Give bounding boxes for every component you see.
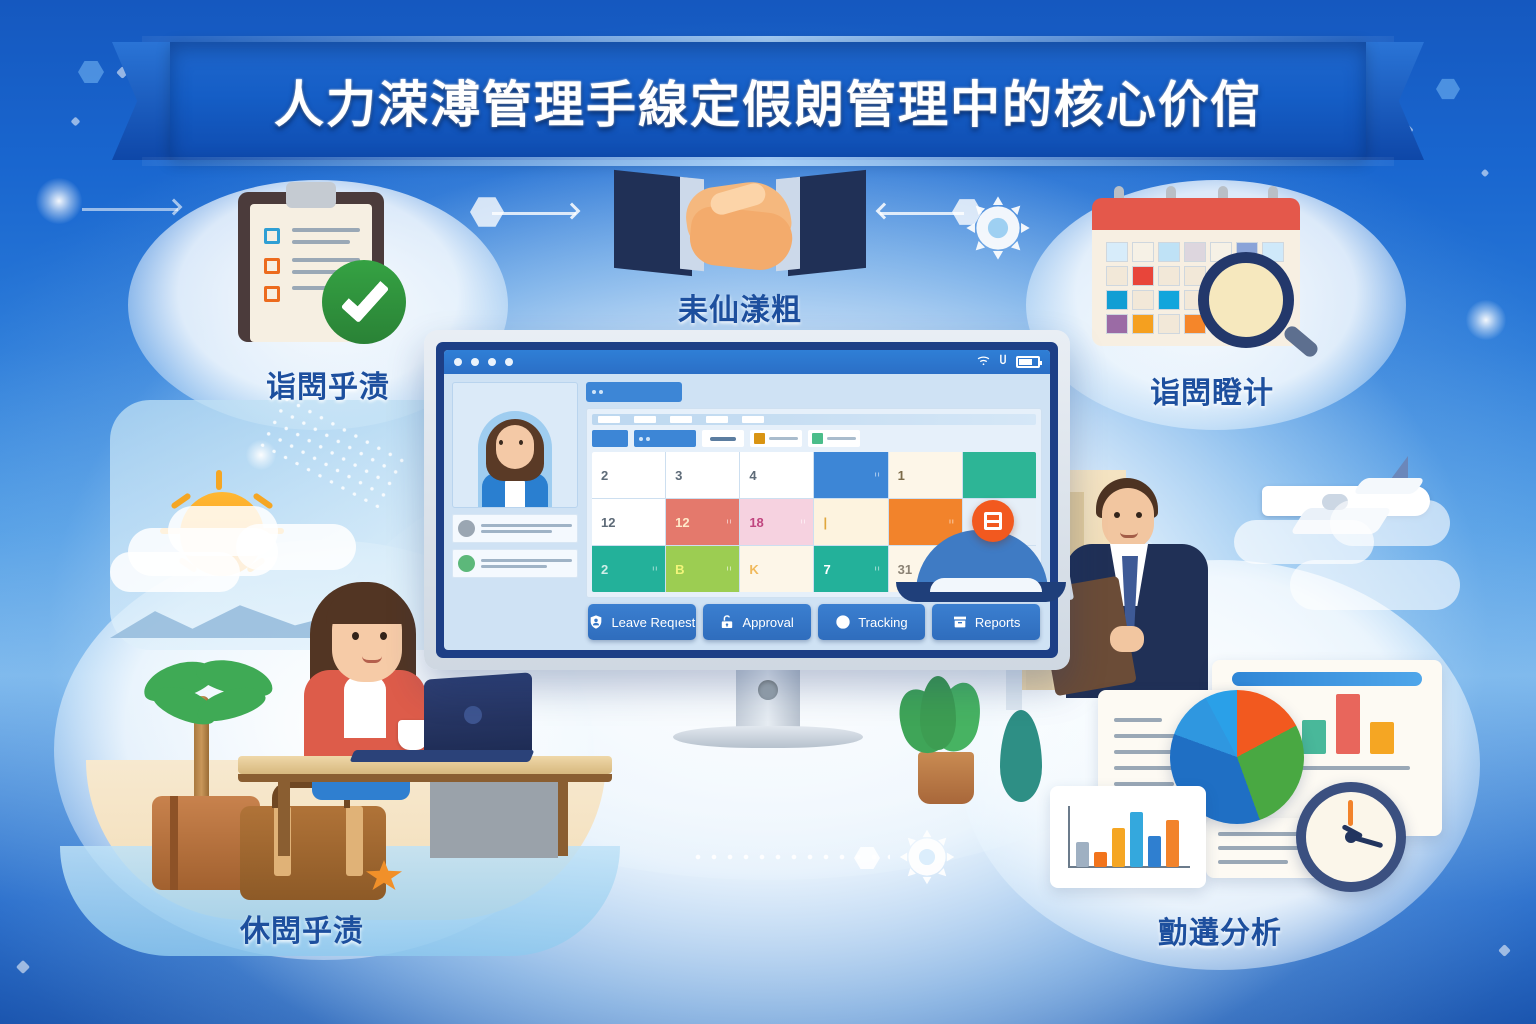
nav-item[interactable] [670,416,692,423]
usb-icon [999,354,1007,370]
bar-chart-bar [1370,722,1394,754]
clock-icon [835,614,851,630]
toolbar-field[interactable] [702,430,744,447]
calendar-cell-number: 18 [749,515,763,530]
panel-toolbar [592,430,1036,447]
magnifier-lens [1198,252,1294,348]
checkbox-checked [264,258,280,274]
window-dot[interactable] [505,358,513,366]
calendar-cell-tag: ıı [875,472,881,479]
title-banner: 人力溁溥管理手線定假朗管理中的核心价倌 [112,42,1424,160]
hexagon-node [470,196,504,228]
laptop-icon [464,706,482,724]
app-window: 234ıı11212ıı18ıı|ıı2ııBııK7ıı31 Leave Re… [444,350,1050,650]
calendar-cell-tag: ıı [949,519,955,526]
bar-chart-bar [1166,820,1179,867]
gear-icon [896,826,958,888]
cal-cell [1132,242,1154,262]
bar-chart-bar [1076,842,1089,867]
feature-label-leave-stats: 诣閚瞪计 [1052,368,1372,412]
action-button-row: Leave Reqıest Approval Tracking [586,604,1042,642]
archive-icon [952,614,968,630]
bar-chart-bar [1302,720,1326,754]
list-item-lines [481,524,572,533]
cal-cell [1184,242,1206,262]
calendar-cell-tag: ıı [726,519,732,526]
cal-cell [1132,266,1154,286]
legend-item-approved [808,430,860,447]
cal-cell [1158,314,1180,334]
document-line [1218,860,1288,864]
bar-chart-bar [1112,828,1125,867]
sparkle [71,117,81,127]
cap-highlight [930,578,1042,592]
arrow-icon [492,212,576,215]
desk-leg [278,782,290,856]
window-dot[interactable] [471,358,479,366]
calendar-cell-number: 12 [601,515,615,530]
calendar-cell-number: 1 [898,468,905,483]
eye [1114,512,1120,518]
cloud [1330,500,1450,546]
monitor-stand-base [673,726,863,748]
sparkle [36,178,82,224]
potted-plant-icon [918,752,974,804]
desk-drawer [430,782,558,858]
feature-label-vacation: 休閚乎渍 [142,906,462,950]
legend-swatch [754,433,765,444]
cal-cell [1158,266,1180,286]
calendar-cell-tag: ıı [652,566,658,573]
battery-icon [1016,356,1040,368]
calendar-cell[interactable]: 12ıı [666,499,739,545]
wifi-icon [977,355,990,369]
sparkle [1498,944,1511,957]
checkbox-checked [264,286,280,302]
calendar-cell[interactable]: 3 [666,452,739,498]
sparkle [16,960,30,974]
calendar-cell-number: | [823,515,827,530]
monitor-screen: 234ıı11212ıı18ıı|ıı2ııBııK7ıı31 Leave Re… [436,342,1058,658]
sparkle [246,440,276,470]
calendar-search-icon [1086,186,1306,351]
leave-request-button[interactable]: Leave Reqıest [588,604,696,640]
avatar-face [496,425,534,469]
calendar-cell[interactable]: 7ıı [814,546,887,592]
calendar-header [1092,198,1300,230]
suitcase-icon [170,796,178,890]
reports-label: Reports [975,615,1021,630]
laptop-icon [350,750,535,762]
document-line [1300,766,1410,770]
wing [1353,478,1426,494]
reports-button[interactable]: Reports [932,604,1040,640]
avatar [458,520,475,537]
calendar-cell-number: 4 [749,468,756,483]
calendar-cell[interactable]: K [740,546,813,592]
bar-chart-bar [1336,694,1360,754]
nav-item[interactable] [706,416,728,423]
cloud [1290,560,1460,610]
clipboard-line [292,228,360,232]
desktop-monitor: 234ıı11212ıı18ıı|ıı2ııBııK7ıı31 Leave Re… [424,330,1070,670]
arrow-icon [876,203,893,220]
panel-nav[interactable] [592,414,1036,425]
avatar-eye [499,440,503,445]
bar-chart-bar [1148,836,1161,867]
calendar-cell-number: 31 [898,562,912,577]
nav-item[interactable] [634,416,656,423]
feature-label-collaboration: 耒仙漾粗 [580,285,900,329]
poster-canvas: 人力溁溥管理手線定假朗管理中的核心价倌 [0,0,1536,1024]
calendar-cell[interactable]: 2 [592,452,665,498]
calendar-cell-tag: ıı [875,566,881,573]
sparkle [1466,300,1506,340]
cal-cell [1106,242,1128,262]
page-title: 人力溁溥管理手線定假朗管理中的核心价倌 [112,65,1424,137]
window-dot[interactable] [454,358,462,366]
calendar-cell[interactable]: 4 [740,452,813,498]
cal-cell [1132,314,1154,334]
cal-cell [1158,290,1180,310]
document-line [1114,718,1162,722]
avatar-shirt [505,477,525,507]
tracking-button[interactable]: Tracking [818,604,926,640]
gear-icon [962,192,1034,264]
desk [238,774,612,782]
legend-item-pending [750,430,802,447]
cal-cell [1106,290,1128,310]
arrow-icon [880,212,964,215]
bar-chart-bar [1130,812,1143,867]
sun-icon [216,470,222,490]
briefcase-icon [240,806,386,900]
list-item-lines [481,559,572,568]
legend-swatch [812,433,823,444]
calendar-cell[interactable]: 1 [889,452,962,498]
bar-chart-bar [1094,852,1107,867]
clipboard-line [292,240,350,244]
search-input[interactable] [586,382,682,402]
leave-request-label: Leave Reqıest [611,615,695,630]
nav-item[interactable] [598,416,620,423]
calendar-cell[interactable]: ıı [814,452,887,498]
bar-chart-card [1050,786,1206,888]
chart-axis [1068,806,1070,868]
cloud [110,552,240,592]
checkbox-checked [264,228,280,244]
employee-avatar[interactable] [452,382,578,508]
calendar-cell-tag: ıı [726,566,732,573]
document-header-bar [1232,672,1422,686]
list-item[interactable] [452,549,578,578]
toolbar-button[interactable] [592,430,628,447]
arrow-icon [82,208,178,211]
handshake-icon [614,168,866,278]
calendar-cell-number: 12 [675,515,689,530]
calendar-cell[interactable]: 12 [592,499,665,545]
lock-icon [719,614,735,630]
calendar-cell-number: 2 [601,468,608,483]
list-item[interactable] [452,514,578,543]
banner-bottom-edge [142,157,1394,166]
cal-cell [1106,314,1128,334]
calendar-cell-number: 2 [601,562,608,577]
calendar-cell-number: 3 [675,468,682,483]
calendar-cell-tag: ıı [801,519,807,526]
clipboard-clip [286,182,336,208]
avatar-eye [519,440,523,445]
clock-hand-second [1348,800,1353,826]
user-shield-icon [588,614,604,630]
calendar-cell[interactable]: Bıı [666,546,739,592]
approval-button[interactable]: Approval [703,604,811,640]
cal-cell [1106,266,1128,286]
eye [352,632,359,640]
calendar-cell[interactable]: 2ıı [592,546,665,592]
approval-label: Approval [742,615,793,630]
hexagon-node [1436,78,1460,100]
arrow-icon [564,203,581,220]
cal-cell [1158,242,1180,262]
face [1102,488,1154,550]
sparkle [1481,169,1489,177]
calendar-badge-glyph [984,520,1002,523]
app-sidebar [452,382,578,642]
toolbar-dropdown[interactable] [634,430,696,447]
window-dot[interactable] [488,358,496,366]
calendar-cell[interactable]: | [814,499,887,545]
calendar-cell-number: B [675,562,684,577]
app-titlebar [444,350,1050,374]
cal-cell [1132,290,1154,310]
calendar-cell[interactable] [963,452,1036,498]
eye [380,632,387,640]
feature-label-data-analysis: 勯遘分析 [1060,908,1380,952]
calendar-cell-number: 7 [823,562,830,577]
arrow-icon [166,199,183,216]
hand [1110,626,1144,652]
hexagon-node [78,60,104,84]
briefcase-icon [346,806,363,876]
clipboard-check-icon [238,182,408,342]
eye [1136,512,1142,518]
calendar-cell[interactable]: 18ıı [740,499,813,545]
monitor-power-button[interactable] [758,680,778,700]
calendar-cell-number: K [749,562,758,577]
nav-item[interactable] [742,416,764,423]
clock-center-pin [1345,831,1357,843]
app-body: 234ıı11212ıı18ıı|ıı2ııBııK7ıı31 Leave Re… [444,374,1050,650]
tracking-label: Tracking [858,615,907,630]
avatar [458,555,475,572]
